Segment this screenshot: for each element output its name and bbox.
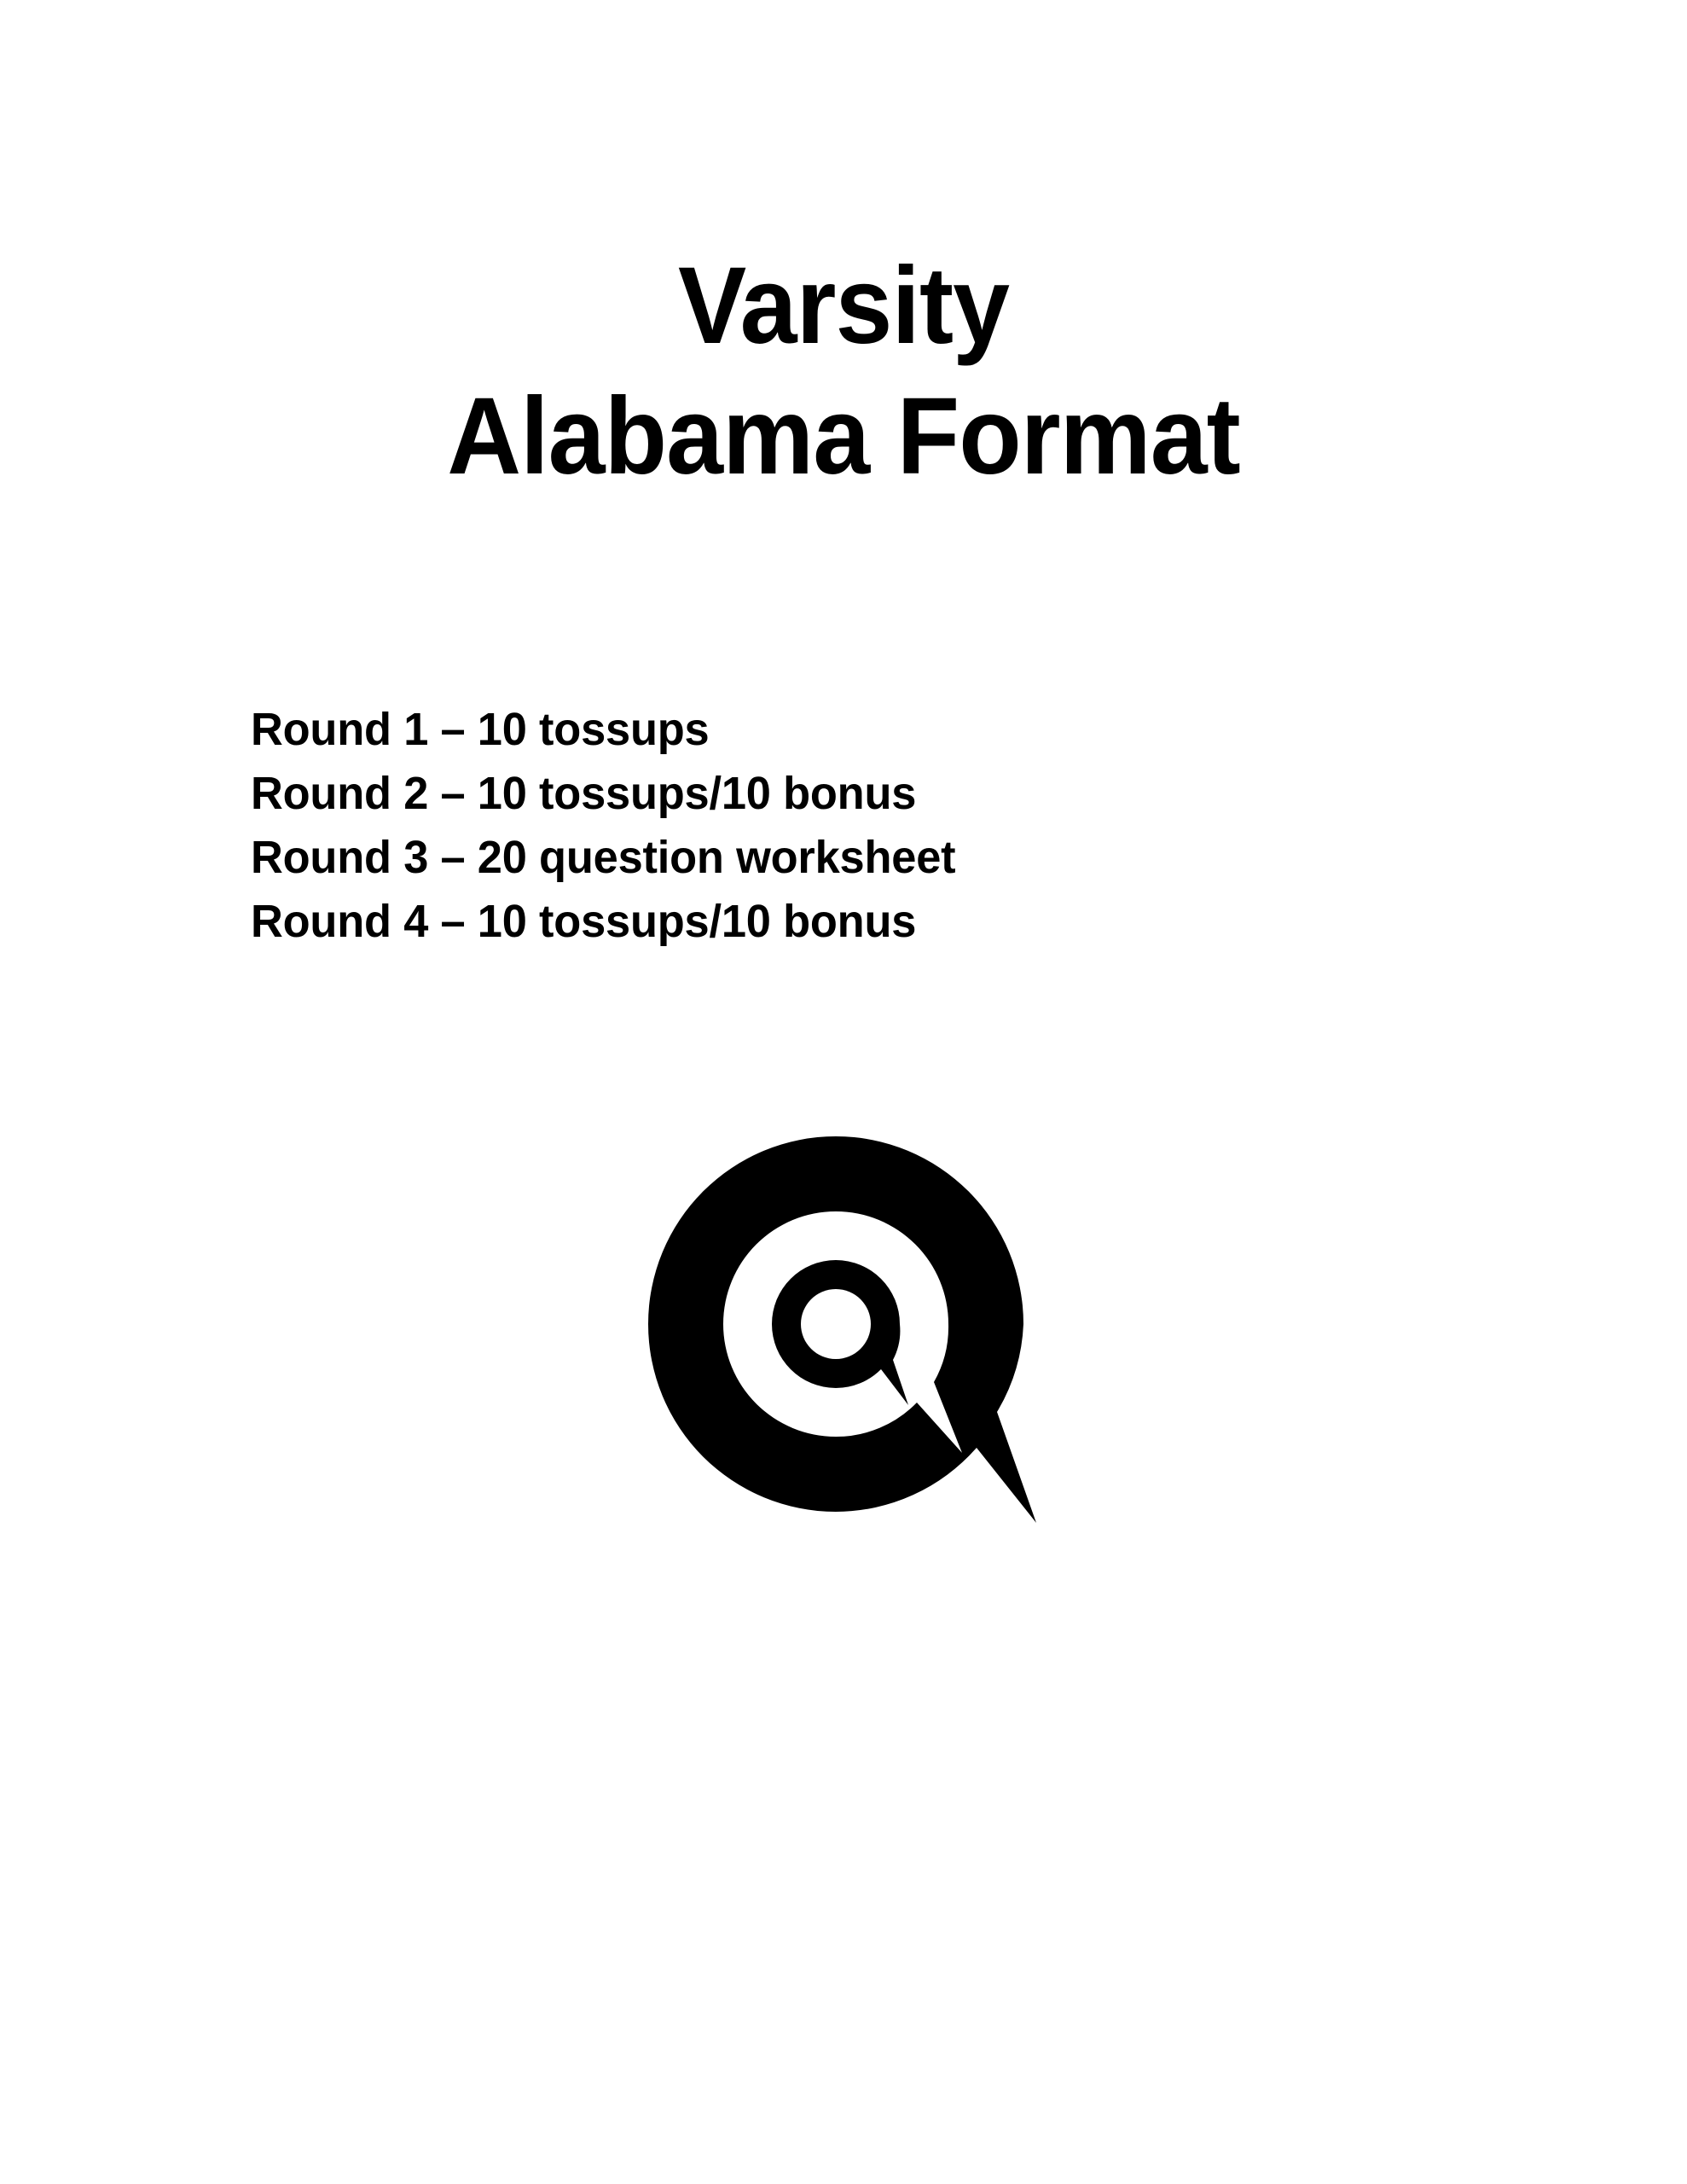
round-line-4: Round 4 – 10 tossups/10 bonus [251, 890, 1409, 954]
q-speech-bubble-icon [635, 1130, 1062, 1540]
page-title: Varsity Alabama Format [0, 241, 1687, 502]
title-line-alabama-format: Alabama Format [50, 371, 1636, 502]
logo-container [635, 1130, 1062, 1540]
document-page: Varsity Alabama Format Round 1 – 10 toss… [0, 0, 1687, 2184]
title-line-varsity: Varsity [50, 241, 1636, 371]
round-line-1: Round 1 – 10 tossups [251, 698, 1409, 762]
logo-center-dot [801, 1289, 871, 1359]
rounds-list: Round 1 – 10 tossups Round 2 – 10 tossup… [251, 698, 1445, 954]
round-line-3: Round 3 – 20 question worksheet [251, 826, 1409, 890]
round-line-2: Round 2 – 10 tossups/10 bonus [251, 762, 1409, 826]
